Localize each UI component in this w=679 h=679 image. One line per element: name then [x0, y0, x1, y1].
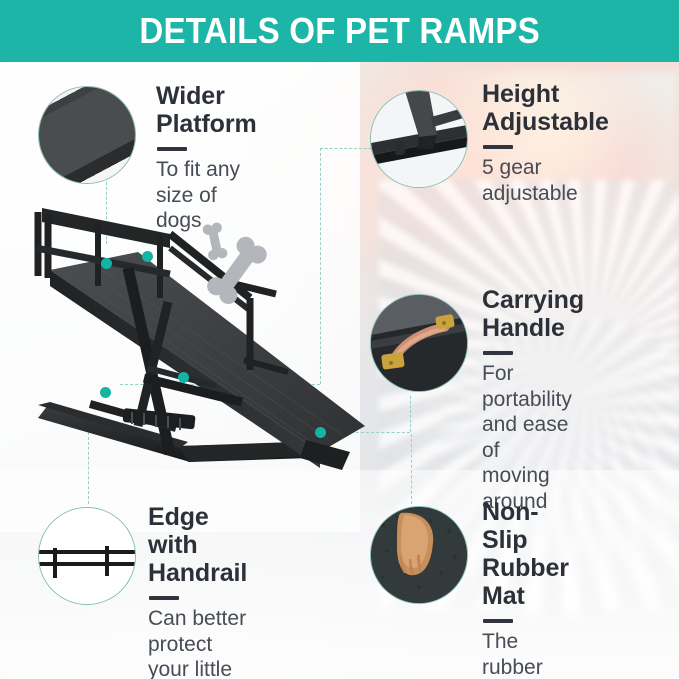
callout-title: Edge with Handrail — [148, 503, 247, 587]
callout-divider — [149, 596, 179, 600]
callout-body: To fit any size of dogs — [156, 157, 257, 234]
leather-handle-closeup-icon — [371, 295, 467, 391]
hotspot-dot-adjuster[interactable] — [178, 372, 189, 383]
infographic-canvas: DETAILS OF PET RAMPS — [0, 0, 679, 679]
hotspot-dot-mat[interactable] — [315, 427, 326, 438]
callout-body: For portability and ease of moving aroun… — [482, 361, 584, 515]
callout-title: Height Adjustable — [482, 80, 609, 136]
hotspot-dot-handrail[interactable] — [142, 251, 153, 262]
leader-line-carry-vertical — [410, 396, 411, 432]
callout-text-edge-with-handrail: Edge with Handrail Can better protect yo… — [148, 503, 247, 679]
callout-title: Non-Slip Rubber Mat — [482, 498, 569, 610]
callout-divider — [483, 351, 513, 355]
callout-image-wider-platform — [38, 86, 136, 184]
hotspot-dot-leg[interactable] — [100, 387, 111, 398]
callout-text-non-slip-rubber-mat: Non-Slip Rubber Mat The rubber prevents … — [482, 498, 569, 679]
ramp-platform-closeup-icon — [39, 87, 135, 183]
header-banner: DETAILS OF PET RAMPS — [0, 0, 679, 62]
callout-image-carrying-handle — [370, 294, 468, 392]
callout-body: The rubber prevents your dog from slippi… — [482, 629, 569, 679]
leader-line-mat-vertical — [411, 434, 412, 504]
callout-image-height-adjustable — [370, 90, 468, 188]
callout-divider — [157, 147, 187, 151]
callout-text-carrying-handle: Carrying Handle For portability and ease… — [482, 286, 584, 515]
callout-image-edge-with-handrail — [38, 507, 136, 605]
callout-text-wider-platform: Wider Platform To fit any size of dogs — [156, 82, 257, 234]
hotspot-dot-platform[interactable] — [101, 258, 112, 269]
callout-title: Wider Platform — [156, 82, 257, 138]
page-title: DETAILS OF PET RAMPS — [139, 10, 540, 52]
callout-body: 5 gear adjustable — [482, 155, 609, 206]
adjuster-bracket-closeup-icon — [371, 91, 467, 187]
callout-title: Carrying Handle — [482, 286, 584, 342]
callout-image-non-slip-rubber-mat — [370, 506, 468, 604]
callout-divider — [483, 145, 513, 149]
bone-decorations — [195, 222, 320, 317]
callout-body: Can better protect your little dog — [148, 606, 247, 679]
handrail-line-icon — [39, 508, 135, 604]
callout-divider — [483, 619, 513, 623]
dog-paw-on-mat-icon — [371, 507, 467, 603]
callout-text-height-adjustable: Height Adjustable 5 gear adjustable — [482, 80, 609, 206]
